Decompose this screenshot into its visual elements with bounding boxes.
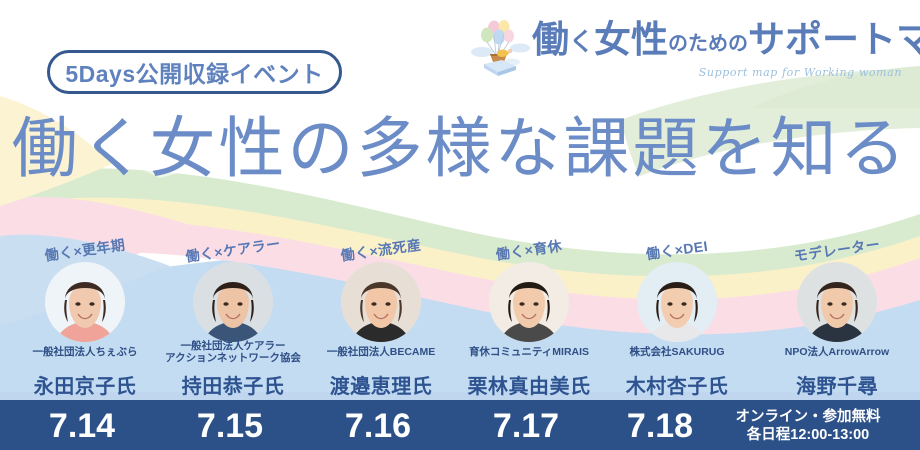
balloon-basket-icon xyxy=(470,18,532,80)
speaker-card: 働く×更年期一般社団法人ちぇぶら永田京子氏 xyxy=(10,240,160,400)
page-title: 働く女性の多様な課題を知る xyxy=(0,108,920,190)
footer-date: 7.18 xyxy=(600,407,720,446)
speaker-photo-kimura xyxy=(637,262,717,342)
speaker-name: 渡邉恵理氏 xyxy=(298,370,464,399)
footer-date: 7.17 xyxy=(466,407,586,446)
footer-date: 7.14 xyxy=(22,407,142,446)
speaker-name: 永田京子氏 xyxy=(2,370,168,399)
speaker-organization: 一般社団法人ちぇぶら xyxy=(2,346,168,358)
speaker-organization: 一般社団法人ケアラー アクションネットワーク協会 xyxy=(150,340,316,364)
speaker-photo-unno xyxy=(797,262,877,342)
speaker-card: モデレーターNPO法人ArrowArrow海野千尋 xyxy=(762,240,912,400)
speaker-name: 持田恭子氏 xyxy=(150,370,316,399)
speaker-organization: 育休コミュニティMIRAIS xyxy=(446,346,612,358)
speaker-list: 働く×更年期一般社団法人ちぇぶら永田京子氏働く×ケアラー一般社団法人ケアラー ア… xyxy=(0,240,920,400)
logo-wordmark: 働く女性のためのサポートマップ xyxy=(532,16,912,64)
speaker-card: 働く×流死産一般社団法人BECAME渡邉恵理氏 xyxy=(306,240,456,400)
footer-note: オンライン・参加無料 各日程12:00-13:00 xyxy=(708,408,908,444)
speaker-card: 働く×DEI株式会社SAKURUG木村杏子氏 xyxy=(602,240,752,400)
speaker-organization: 一般社団法人BECAME xyxy=(298,346,464,358)
logo-tagline: Support map for Working woman xyxy=(699,66,902,79)
speaker-card: 働く×ケアラー一般社団法人ケアラー アクションネットワーク協会持田恭子氏 xyxy=(158,240,308,400)
speaker-photo-mochida xyxy=(193,262,273,342)
logo-part-3: のための xyxy=(668,33,748,55)
event-type-badge-label: 5Days公開収録イベント xyxy=(65,55,323,89)
logo-part-1: く xyxy=(569,28,594,56)
speaker-organization: 株式会社SAKURUG xyxy=(594,346,760,358)
speaker-name: 木村杏子氏 xyxy=(594,370,760,399)
event-type-badge: 5Days公開収録イベント xyxy=(47,50,342,94)
speaker-name: 海野千尋 xyxy=(754,370,920,399)
brand-logo: 働く女性のためのサポートマップ Support map for Working … xyxy=(470,10,910,92)
footer-note-line1: オンライン・参加無料 xyxy=(708,408,908,426)
logo-part-0: 働 xyxy=(532,19,569,60)
footer-date: 7.15 xyxy=(170,407,290,446)
speaker-photo-kuribayashi xyxy=(489,262,569,342)
footer-note-line2: 各日程12:00-13:00 xyxy=(708,426,908,444)
footer-bar: オンライン・参加無料 各日程12:00-13:00 7.147.157.167.… xyxy=(0,400,920,450)
speaker-organization: NPO法人ArrowArrow xyxy=(754,346,920,358)
speaker-photo-watanabe xyxy=(341,262,421,342)
speaker-card: 働く×育休育休コミュニティMIRAIS栗林真由美氏 xyxy=(454,240,604,400)
speaker-photo-nagata xyxy=(45,262,125,342)
logo-part-4: サポートマップ xyxy=(748,19,920,60)
footer-date: 7.16 xyxy=(318,407,438,446)
event-banner: 働く女性のためのサポートマップ Support map for Working … xyxy=(0,0,920,450)
speaker-name: 栗林真由美氏 xyxy=(446,370,612,399)
logo-part-2: 女性 xyxy=(594,19,668,60)
